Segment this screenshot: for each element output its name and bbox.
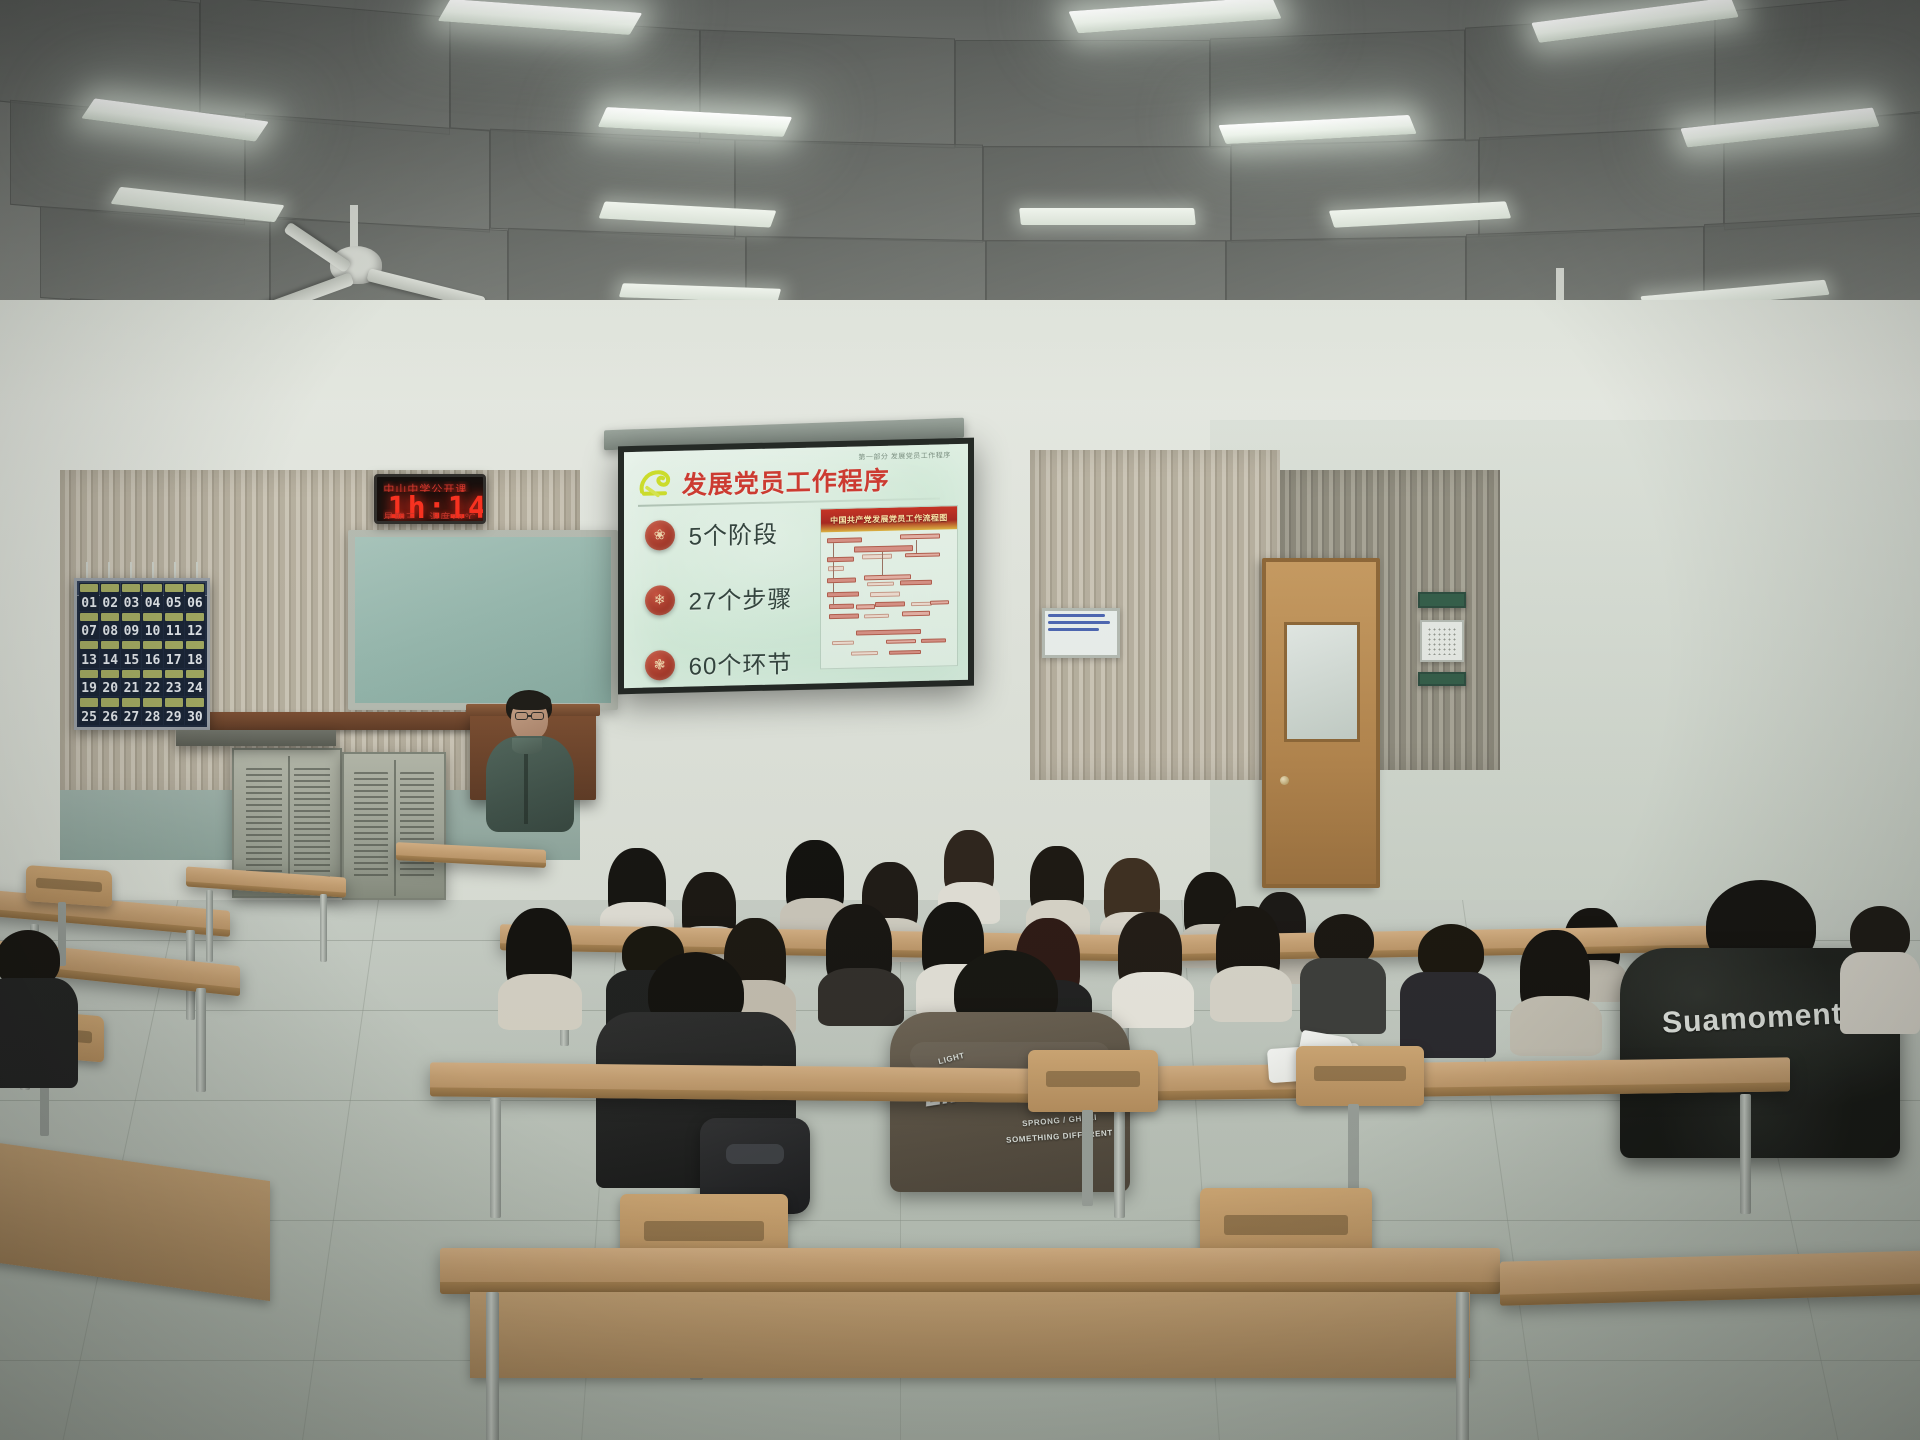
- pocket-chart-cell-tag: [143, 641, 161, 649]
- workflow-poster-header: 中国共产党发展党员工作流程图: [821, 506, 957, 531]
- pocket-chart-cell[interactable]: 29: [164, 697, 184, 725]
- pocket-chart-cell-tag: [122, 670, 140, 678]
- pocket-chart-cell[interactable]: 21: [121, 669, 141, 697]
- pocket-chart-cell-number: 23: [166, 682, 182, 695]
- workflow-poster-title: 中国共产党发展党员工作流程图: [830, 512, 948, 526]
- pocket-chart-cell-number: 01: [81, 597, 97, 610]
- pocket-chart-cell[interactable]: 07: [79, 612, 99, 640]
- pocket-chart-cell-number: 06: [187, 597, 203, 610]
- pocket-chart-cell[interactable]: 06: [185, 583, 205, 611]
- pocket-chart-cell-tag: [165, 641, 183, 649]
- number-pocket-chart[interactable]: 0102030405060708091011121314151617181920…: [74, 578, 210, 730]
- pocket-chart-cell-tag: [186, 641, 204, 649]
- pocket-chart-cell-tag: [165, 698, 183, 706]
- pocket-chart-cell[interactable]: 18: [185, 640, 205, 668]
- pocket-chart-cell[interactable]: 27: [121, 697, 141, 725]
- pocket-chart-cell[interactable]: 25: [79, 697, 99, 725]
- pocket-chart-cell-tag: [143, 584, 161, 592]
- pocket-chart-cell-tag: [165, 613, 183, 621]
- pocket-chart-cell-number: 07: [81, 625, 97, 638]
- slide-bullet-list: ❀ 5个阶段 ❄ 27个步骤 ❃ 60个环节: [645, 514, 796, 688]
- classroom-scene: 中山中学公开课 1h:14 星期三 温度24℃ 0102030405060708…: [0, 0, 1920, 1440]
- pocket-chart-cell-tag: [80, 670, 98, 678]
- chair-front-1[interactable]: [1028, 1050, 1158, 1112]
- desk-row-nearest: [440, 1248, 1500, 1294]
- desk-modesty-panel-nearest: [470, 1292, 1470, 1378]
- teacher-desk: [176, 730, 336, 746]
- pocket-chart-cell[interactable]: 04: [142, 583, 162, 611]
- pocket-chart-cell[interactable]: 13: [79, 640, 99, 668]
- student-mid-9: [1300, 914, 1386, 1030]
- pocket-chart-cell-tag: [80, 584, 98, 592]
- workflow-poster: 中国共产党发展党员工作流程图: [820, 505, 958, 669]
- pocket-chart-cell-number: 24: [187, 682, 203, 695]
- pocket-chart-cell-number: 20: [102, 682, 118, 695]
- wall-info-board-bottom: [1418, 672, 1466, 686]
- door-window: [1284, 622, 1360, 742]
- medal-badge-icon: ❀: [645, 520, 675, 551]
- led-clock-display: 中山中学公开课 1h:14 星期三 温度24℃: [374, 474, 486, 524]
- pocket-chart-cell[interactable]: 16: [142, 640, 162, 668]
- classroom-door[interactable]: [1262, 558, 1380, 888]
- pocket-chart-cell-tag: [80, 698, 98, 706]
- pocket-chart-cell-number: 29: [166, 711, 182, 724]
- led-clock-day: 星期三: [383, 509, 416, 520]
- presenter-fringe: [508, 692, 551, 710]
- pocket-chart-cell-number: 17: [166, 654, 182, 667]
- pocket-chart-cell-number: 04: [145, 597, 161, 610]
- chalk-tray: [196, 712, 496, 730]
- pocket-chart-cell[interactable]: 01: [79, 583, 99, 611]
- pocket-chart-cell-number: 14: [102, 654, 118, 667]
- pocket-chart-cell-number: 25: [81, 711, 97, 724]
- presenter-student: [468, 690, 588, 840]
- student-far-left-1: [0, 930, 78, 1080]
- presenter-glasses-icon: [531, 712, 544, 720]
- pocket-chart-cell-tag: [143, 613, 161, 621]
- pocket-chart-cell-tag: [186, 670, 204, 678]
- pocket-chart-cell[interactable]: 26: [100, 697, 120, 725]
- slide-bullet-label: 27个步骤: [689, 579, 793, 617]
- pocket-chart-cell[interactable]: 24: [185, 669, 205, 697]
- wall-notice-whiteboard: [1042, 608, 1120, 658]
- led-clock-date: 温度24℃: [429, 509, 476, 520]
- pocket-chart-cell-number: 19: [81, 682, 97, 695]
- pocket-chart-cell[interactable]: 09: [121, 612, 141, 640]
- presentation-slide: 第一部分 发展党员工作程序 发展党员工作程序 ❀ 5个阶段: [624, 444, 968, 688]
- party-emblem-icon: [638, 469, 672, 500]
- pocket-chart-cell-tag: [101, 641, 119, 649]
- pocket-chart-cell-tag: [186, 584, 204, 592]
- wall-grid-panel: [1420, 620, 1464, 662]
- pocket-chart-cell-tag: [122, 584, 140, 592]
- pocket-chart-cell-tag: [165, 584, 183, 592]
- student-right-2: [1510, 930, 1602, 1052]
- student-mid-1: [498, 908, 582, 1018]
- pocket-chart-cell[interactable]: 05: [164, 583, 184, 611]
- door-knob-icon[interactable]: [1280, 776, 1289, 785]
- slide-bullet-item: ❀ 5个阶段: [645, 514, 796, 553]
- pocket-chart-cell-number: 03: [124, 597, 140, 610]
- pocket-chart-cell[interactable]: 19: [79, 669, 99, 697]
- ceiling-light: [1019, 208, 1196, 225]
- slide-title: 发展党员工作程序: [682, 461, 890, 502]
- pocket-chart-cell-tag: [143, 670, 161, 678]
- pocket-chart-cell[interactable]: 03: [121, 583, 141, 611]
- pocket-chart-cell-tag: [101, 584, 119, 592]
- pocket-chart-cell-tag: [80, 613, 98, 621]
- pocket-chart-cell-number: 30: [187, 711, 203, 724]
- slide-title-row: 发展党员工作程序: [638, 461, 941, 501]
- pocket-chart-cell-number: 28: [145, 711, 161, 724]
- chair-front-2[interactable]: [1296, 1046, 1424, 1106]
- pocket-chart-cell-tag: [101, 670, 119, 678]
- slide-bullet-item: ❄ 27个步骤: [645, 579, 796, 618]
- led-clock-time: 1h:14: [388, 491, 473, 509]
- projection-screen-frame: 第一部分 发展党员工作程序 发展党员工作程序 ❀ 5个阶段: [618, 438, 974, 695]
- pocket-chart-cell-number: 18: [187, 654, 203, 667]
- pocket-chart-cell-tag: [101, 613, 119, 621]
- pocket-chart-cell-tag: [186, 613, 204, 621]
- classroom-chalkboard: [348, 530, 618, 710]
- pocket-chart-cell-number: 09: [124, 625, 140, 638]
- pocket-chart-cell-number: 27: [124, 711, 140, 724]
- backpack-pocket: [726, 1144, 784, 1164]
- pocket-chart-cell-number: 26: [102, 711, 118, 724]
- chair-left-1[interactable]: [26, 865, 112, 907]
- pocket-chart-cell-number: 02: [102, 597, 118, 610]
- slide-bullet-item: ❃ 60个环节: [645, 644, 796, 683]
- presenter-collar: [512, 738, 542, 754]
- slide-bullet-label: 5个阶段: [689, 515, 778, 552]
- student-mid-8: [1210, 906, 1292, 1018]
- grid-panel-dots: [1427, 627, 1457, 655]
- pocket-chart-cell[interactable]: 08: [100, 612, 120, 640]
- student-right-1: [1400, 924, 1496, 1050]
- pocket-chart-cell-number: 12: [187, 625, 203, 638]
- pocket-chart-cell-number: 16: [145, 654, 161, 667]
- pocket-chart-cell-number: 05: [166, 597, 182, 610]
- pocket-chart-cell[interactable]: 17: [164, 640, 184, 668]
- pocket-chart-cell-tag: [122, 698, 140, 706]
- pocket-chart-cell-number: 21: [124, 682, 140, 695]
- student-far-right-1: [1840, 906, 1920, 1026]
- pocket-chart-cell[interactable]: 23: [164, 669, 184, 697]
- pocket-chart-cell-tag: [122, 641, 140, 649]
- slide-bullet-label: 60个环节: [689, 644, 793, 682]
- pocket-chart-cell[interactable]: 11: [164, 612, 184, 640]
- pocket-chart-cell[interactable]: 22: [142, 669, 162, 697]
- pocket-chart-cell-number: 11: [166, 625, 182, 638]
- pocket-chart-cell[interactable]: 14: [100, 640, 120, 668]
- pocket-chart-cell[interactable]: 10: [142, 612, 162, 640]
- led-clock-footer: 星期三 温度24℃: [383, 509, 476, 520]
- pocket-chart-cell-number: 08: [102, 625, 118, 638]
- pocket-chart-cell[interactable]: 20: [100, 669, 120, 697]
- pocket-chart-cell-tag: [165, 670, 183, 678]
- presenter-glasses-icon: [515, 712, 528, 720]
- wall-info-board-top: [1418, 592, 1466, 608]
- pocket-chart-cell[interactable]: 02: [100, 583, 120, 611]
- storage-cabinet[interactable]: [342, 752, 446, 900]
- pocket-chart-cell[interactable]: 30: [185, 697, 205, 725]
- pocket-chart-cell-number: 13: [81, 654, 97, 667]
- pocket-chart-cell-tag: [101, 698, 119, 706]
- pocket-chart-cell-number: 22: [145, 682, 161, 695]
- pocket-chart-cell-number: 15: [124, 654, 140, 667]
- pocket-chart-cell-tag: [80, 641, 98, 649]
- pocket-chart-cell-tag: [186, 698, 204, 706]
- glasses-bridge: [528, 715, 531, 717]
- pocket-chart-cell-tag: [143, 698, 161, 706]
- pocket-chart-cell[interactable]: 12: [185, 612, 205, 640]
- pocket-chart-cell[interactable]: 28: [142, 697, 162, 725]
- pocket-chart-cell-tag: [122, 613, 140, 621]
- pocket-chart-cell-number: 10: [145, 625, 161, 638]
- medal-badge-icon: ❄: [645, 585, 675, 616]
- pocket-chart-cell[interactable]: 15: [121, 640, 141, 668]
- medal-badge-icon: ❃: [645, 650, 675, 681]
